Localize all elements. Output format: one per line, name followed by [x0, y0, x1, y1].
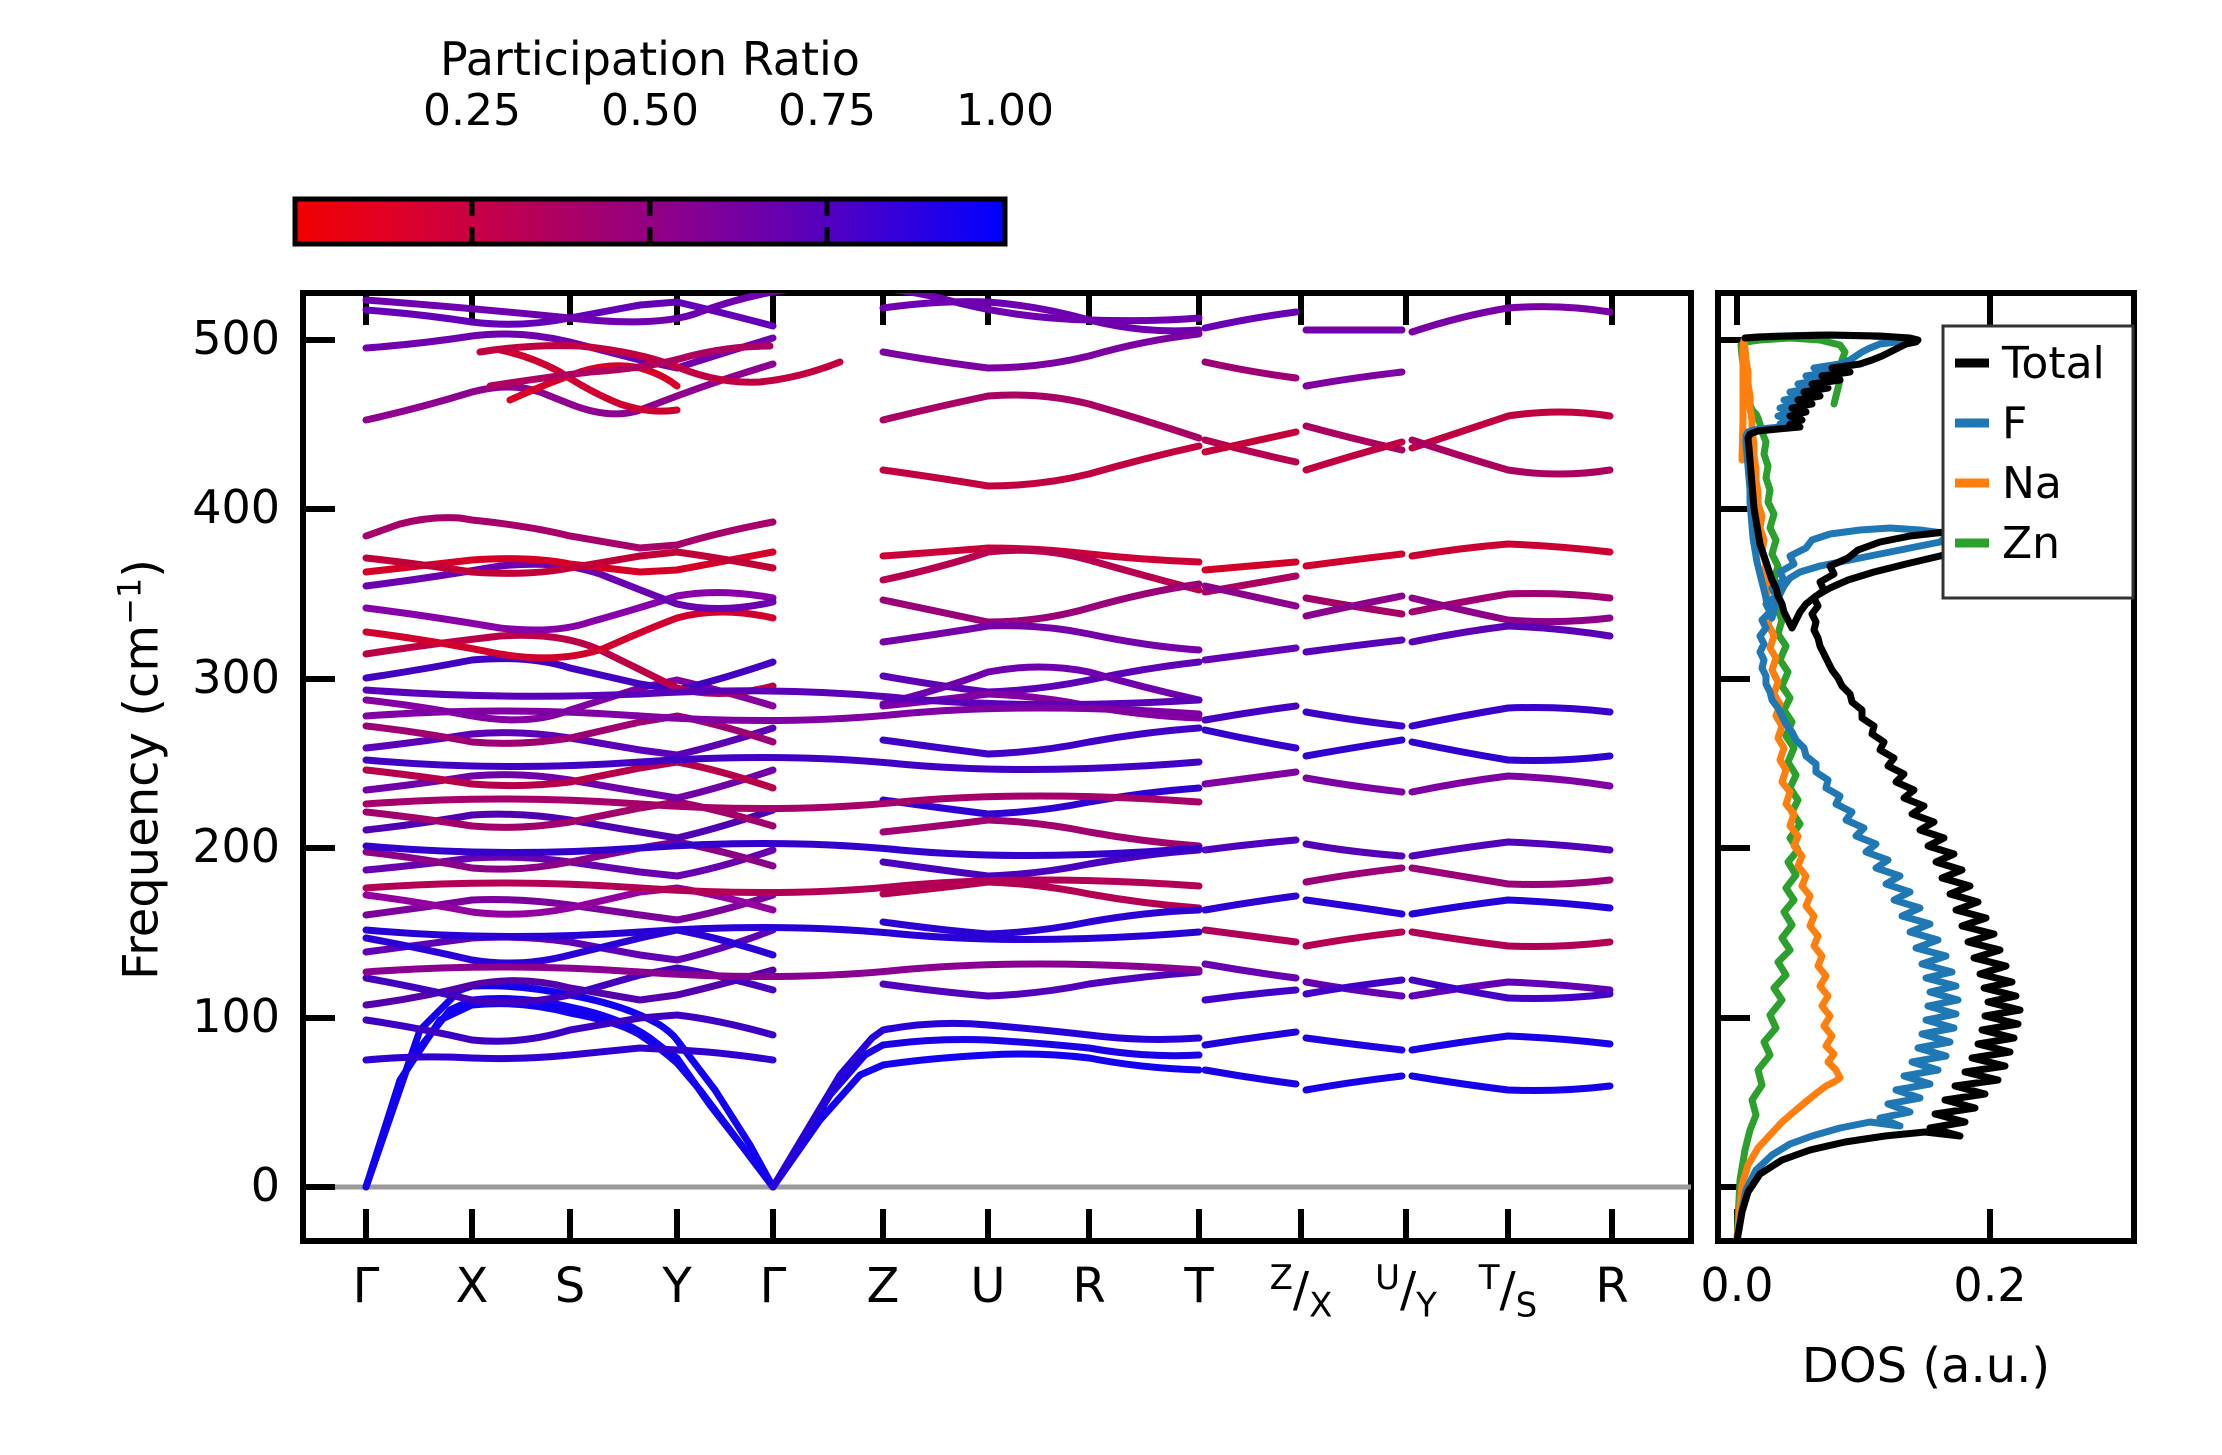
figure-svg — [0, 0, 2222, 1455]
figure-canvas: Participation Ratio 0.25 0.50 0.75 1.00 … — [0, 0, 2222, 1455]
kpath-label-r-1: R — [1029, 1258, 1149, 1314]
y-axis-label-text: Frequency (cm−1) — [114, 559, 170, 980]
bands-ytick-0: 0 — [130, 1158, 280, 1212]
kpath-frac-slash-zx: / — [1293, 1262, 1309, 1318]
colorbar-tick-3: 1.00 — [930, 85, 1080, 136]
legend-label-f: F — [2002, 398, 2027, 449]
bands-ytick-200: 200 — [130, 819, 280, 873]
kpath-label-r-2: R — [1552, 1258, 1672, 1314]
kpath-frac-den-ts: S — [1516, 1286, 1538, 1326]
dos-x-axis-label: DOS (a.u.) — [1718, 1338, 2134, 1394]
bands-ytick-400: 400 — [130, 480, 280, 534]
kpath-label-z: Z — [823, 1258, 943, 1314]
kpath-label-gamma-1: Γ — [306, 1258, 426, 1314]
kpath-frac-slash-uy: / — [1400, 1262, 1416, 1318]
bands-y-axis-label: Frequency (cm−1) — [111, 490, 170, 1050]
kpath-frac-num-ts: T — [1479, 1258, 1500, 1298]
colorbar-tick-0: 0.25 — [397, 85, 547, 136]
kpath-label-gamma-2: Γ — [713, 1258, 833, 1314]
kpath-frac-den-zx: X — [1309, 1286, 1332, 1326]
bands-ytick-300: 300 — [130, 650, 280, 704]
dos-xtick-0: 0.0 — [1662, 1258, 1812, 1312]
kpath-frac-slash-ts: / — [1500, 1262, 1516, 1318]
bands-ytick-100: 100 — [130, 989, 280, 1043]
kpath-label-s: S — [510, 1258, 630, 1314]
colorbar — [295, 199, 1005, 244]
colorbar-tick-1: 0.50 — [575, 85, 725, 136]
legend-label-na: Na — [2002, 458, 2062, 509]
band-curves — [366, 286, 1610, 1187]
kpath-label-t-over-s: T/S — [1448, 1258, 1568, 1326]
legend-label-zn: Zn — [2002, 518, 2060, 569]
bands-y-ticks — [303, 340, 335, 1187]
kpath-frac-num-uy: U — [1375, 1258, 1400, 1298]
legend-label-total: Total — [2002, 338, 2105, 389]
dos-xtick-1: 0.2 — [1915, 1258, 2065, 1312]
kpath-frac-num-zx: Z — [1270, 1258, 1293, 1298]
bands-ytick-500: 500 — [130, 311, 280, 365]
colorbar-title: Participation Ratio — [295, 32, 1005, 86]
kpath-label-z-over-x: Z/X — [1241, 1258, 1361, 1326]
colorbar-tick-2: 0.75 — [752, 85, 902, 136]
kpath-frac-den-uy: Y — [1416, 1286, 1437, 1326]
